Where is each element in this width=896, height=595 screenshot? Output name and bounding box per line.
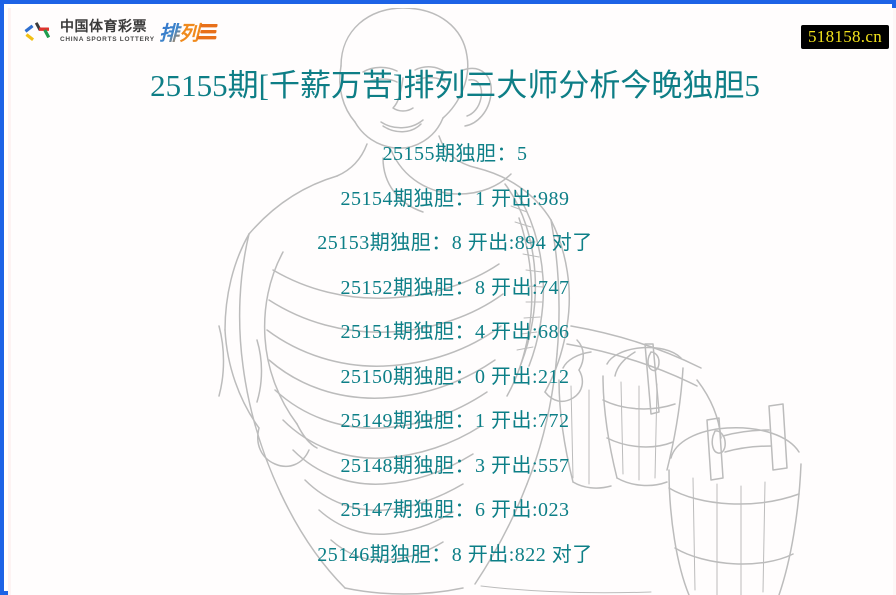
list-item: 25149期独胆：1 开出:772 [11, 399, 896, 444]
site-header: 中国体育彩票 CHINA SPORTS LOTTERY 排 列 [11, 8, 896, 56]
page-title: 25155期[千薪万苦]排列三大师分析今晚独胆5 [11, 66, 896, 106]
list-item: 25153期独胆：8 开出:894 对了 [11, 221, 896, 266]
page-inner: 中国体育彩票 CHINA SPORTS LOTTERY 排 列 [8, 8, 896, 595]
list-item: 25148期独胆：3 开出:557 [11, 444, 896, 489]
site-logo[interactable]: 中国体育彩票 CHINA SPORTS LOTTERY 排 列 [23, 16, 221, 48]
list-item: 25150期独胆：0 开出:212 [11, 355, 896, 400]
list-item: 25152期独胆：8 开出:747 [11, 266, 896, 311]
list-item: 25146期独胆：8 开出:822 对了 [11, 533, 896, 578]
site-watermark-badge: 518158.cn [801, 25, 889, 49]
list-item: 25147期独胆：6 开出:023 [11, 488, 896, 533]
list-item: 25155期独胆：5 [11, 132, 896, 177]
logo-brand-cn: 中国体育彩票 [60, 20, 155, 35]
svg-text:列: 列 [179, 21, 203, 45]
prediction-history-list: 25155期独胆：5 25154期独胆：1 开出:989 25153期独胆：8 … [11, 132, 896, 577]
logo-brand-en: CHINA SPORTS LOTTERY [60, 35, 155, 44]
china-sports-lottery-mark-icon [23, 19, 55, 45]
pailie-san-gamemark-icon: 排 列 [159, 17, 221, 47]
list-item: 25151期独胆：4 开出:686 [11, 310, 896, 355]
page-frame: 中国体育彩票 CHINA SPORTS LOTTERY 排 列 [0, 0, 896, 595]
list-item: 25154期独胆：1 开出:989 [11, 177, 896, 222]
logo-wordmark: 中国体育彩票 CHINA SPORTS LOTTERY [60, 20, 155, 44]
